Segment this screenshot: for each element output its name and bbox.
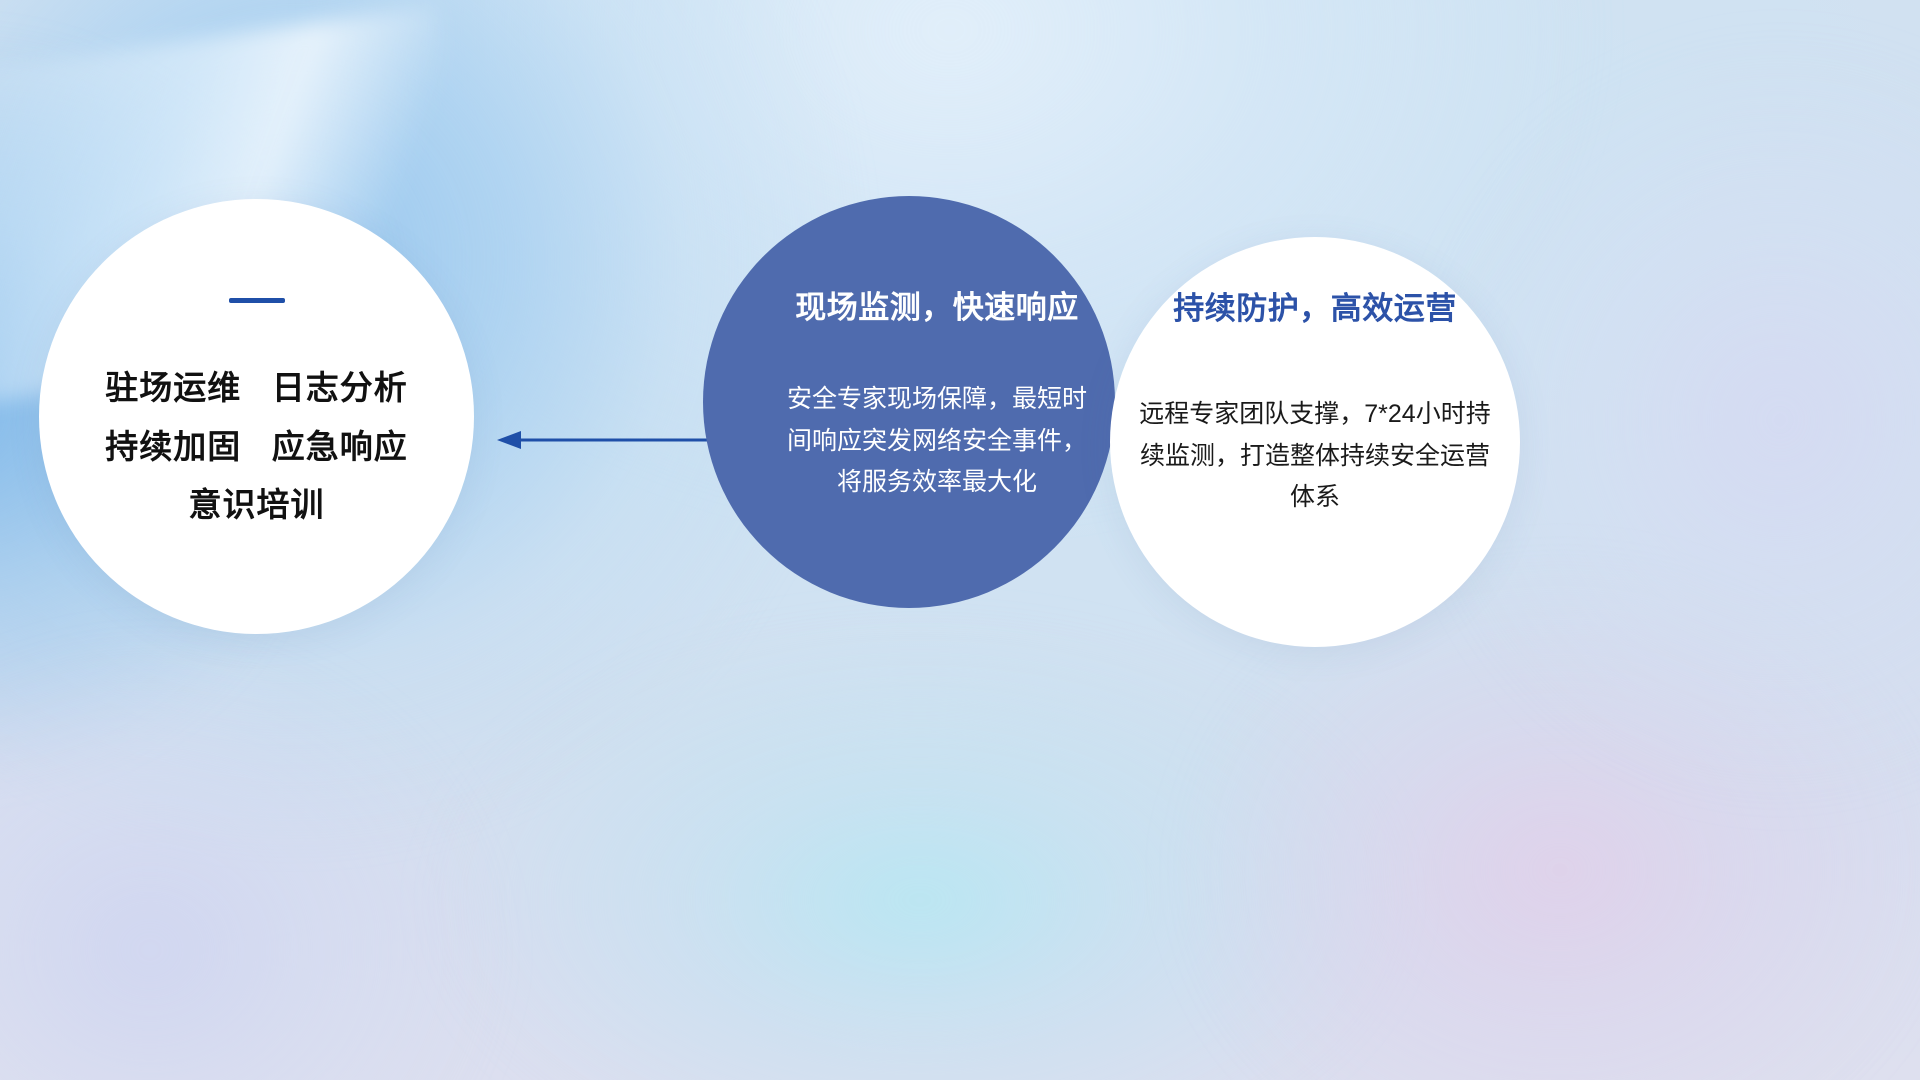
background-glow-bottom-left: [0, 640, 500, 1080]
left-circle-keyword-line: 持续加固 应急响应: [105, 418, 408, 477]
left-circle-keyword-list: 驻场运维 日志分析 持续加固 应急响应 意识培训: [105, 359, 408, 535]
accent-dash-icon: [229, 298, 285, 303]
middle-circle-content: 现场监测，快速响应 安全专家现场保障，最短时间响应突发网络安全事件，将服务效率最…: [703, 196, 1115, 608]
right-circle-title: 持续防护，高效运营: [1173, 283, 1457, 328]
middle-circle-body: 安全专家现场保障，最短时间响应突发网络安全事件，将服务效率最大化: [787, 379, 1087, 504]
slide-canvas: 驻场运维 日志分析 持续加固 应急响应 意识培训 现场监测，快速响应 安全专家现…: [0, 0, 1920, 1080]
left-circle-content: 驻场运维 日志分析 持续加固 应急响应 意识培训: [39, 199, 474, 634]
right-circle-content: 持续防护，高效运营 远程专家团队支撑，7*24小时持续监测，打造整体持续安全运营…: [1110, 237, 1520, 647]
right-circle-body: 远程专家团队支撑，7*24小时持续监测，打造整体持续安全运营体系: [1132, 394, 1498, 519]
middle-circle-title: 现场监测，快速响应: [795, 282, 1079, 327]
left-circle-keyword-line: 意识培训: [188, 476, 324, 535]
left-circle-keyword-line: 驻场运维 日志分析: [105, 359, 408, 418]
